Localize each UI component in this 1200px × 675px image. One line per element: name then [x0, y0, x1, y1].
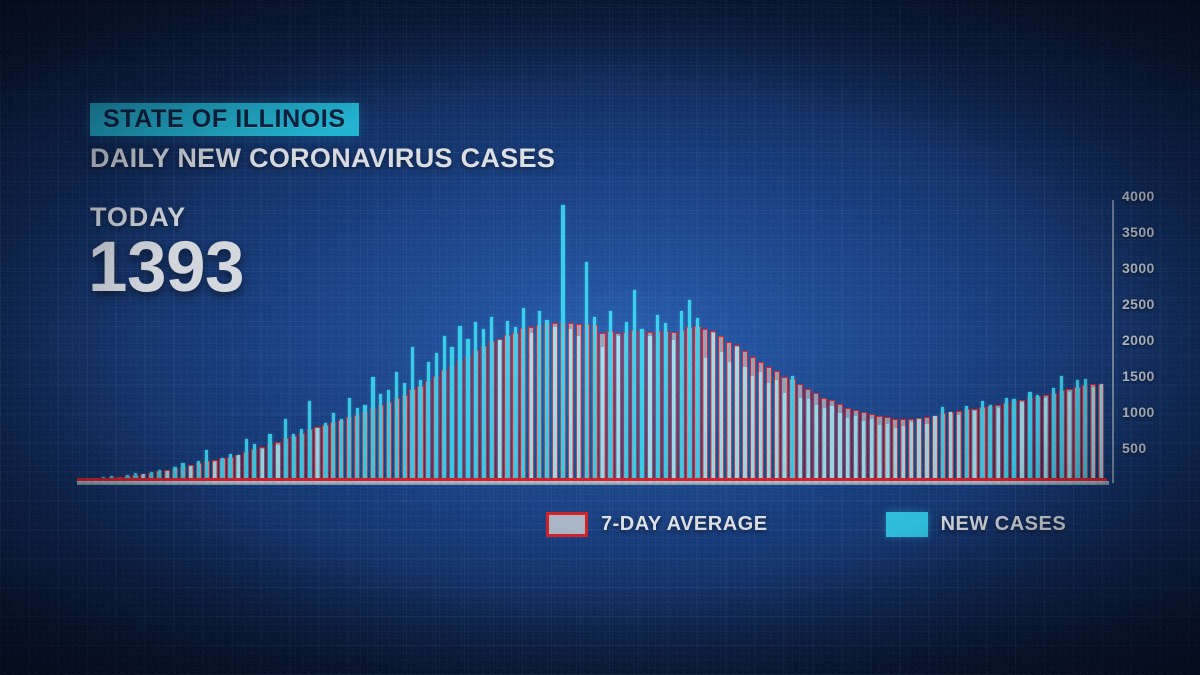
new-cases-bar [427, 362, 430, 484]
new-cases-bar [411, 347, 414, 484]
new-cases-bar [799, 398, 802, 484]
new-cases-bar [902, 426, 905, 484]
new-cases-bar [490, 317, 493, 484]
new-cases-bar [371, 377, 374, 484]
new-cases-bar [482, 329, 485, 484]
new-cases-bar [545, 320, 548, 484]
new-cases-bar [324, 423, 327, 484]
new-cases-bar [925, 424, 928, 484]
state-badge: STATE OF ILLINOIS [90, 103, 359, 136]
new-cases-bar [989, 405, 992, 484]
new-cases-bar [1044, 398, 1047, 484]
new-cases-bar [332, 413, 335, 484]
new-cases-bar [640, 329, 643, 484]
y-tick-label: 2000 [1122, 332, 1155, 348]
new-cases-bar [838, 413, 841, 484]
avg-swatch-icon [546, 512, 588, 537]
legend-item-new-cases: NEW CASES [886, 512, 1067, 537]
new-cases-bar [862, 421, 865, 484]
new-cases-bar [688, 300, 691, 484]
new-cases-bar [854, 416, 857, 484]
new-cases-bar [538, 311, 541, 484]
new-cases-bar [356, 408, 359, 484]
new-cases-swatch-icon [886, 512, 928, 537]
new-cases-bar [910, 422, 913, 484]
new-cases-bar [530, 333, 533, 484]
new-cases-bar [514, 327, 517, 484]
new-cases-bar [553, 327, 556, 484]
new-cases-bar [933, 416, 936, 484]
new-cases-bar [348, 398, 351, 484]
new-cases-bar [387, 390, 390, 484]
y-tick-label: 3000 [1122, 260, 1155, 276]
new-cases-bar [791, 376, 794, 484]
new-cases-bar [981, 401, 984, 484]
new-cases-bar [1052, 388, 1055, 484]
new-cases-bar [466, 339, 469, 484]
y-tick-label: 4000 [1122, 188, 1155, 204]
new-cases-bar [783, 393, 786, 484]
new-cases-bar [1100, 384, 1103, 484]
y-tick-label: 1000 [1122, 404, 1155, 420]
new-cases-bar [419, 380, 422, 484]
new-cases-bar [1012, 399, 1015, 484]
new-cases-bar [680, 311, 683, 484]
chart-plot-area [77, 196, 1106, 484]
new-cases-bar [712, 333, 715, 484]
new-cases-bar [830, 406, 833, 484]
new-cases-bar [340, 419, 343, 484]
chart-legend: 7-DAY AVERAGE NEW CASES [546, 512, 1066, 537]
new-cases-bar [704, 358, 707, 484]
new-cases-bar [435, 353, 438, 484]
new-cases-bar [1005, 398, 1008, 484]
new-cases-bar [450, 347, 453, 484]
new-cases-bar [973, 411, 976, 484]
y-tick-label: 3500 [1122, 224, 1155, 240]
new-cases-bar [625, 322, 628, 484]
y-tick-label: 1500 [1122, 368, 1155, 384]
new-cases-bar [672, 340, 675, 484]
new-cases-bar [949, 412, 952, 484]
new-cases-bar [561, 205, 564, 484]
new-cases-bar [728, 362, 731, 484]
new-cases-bar [403, 383, 406, 484]
new-cases-bar [395, 372, 398, 484]
new-cases-bar [870, 419, 873, 484]
new-cases-bar [577, 336, 580, 484]
new-cases-bar [664, 323, 667, 484]
new-cases-bar [379, 394, 382, 484]
legend-label-new-cases: NEW CASES [941, 513, 1067, 536]
new-cases-bar [601, 347, 604, 484]
new-cases-bar [735, 347, 738, 484]
new-cases-bar [316, 428, 319, 484]
new-cases-bar [894, 428, 897, 484]
new-cases-bar [498, 340, 501, 484]
new-cases-bar [1092, 387, 1095, 484]
new-cases-bar [593, 317, 596, 484]
new-cases-bar [767, 383, 770, 484]
new-cases-bar [1020, 402, 1023, 484]
bar-series-container [77, 196, 1106, 484]
y-axis-line [1112, 200, 1114, 483]
new-cases-bar [1076, 380, 1079, 484]
new-cases-bar [363, 405, 366, 484]
new-cases-bar [846, 418, 849, 484]
chart-baseline [77, 481, 1109, 485]
new-cases-bar [268, 434, 271, 484]
y-tick-label: 500 [1122, 440, 1147, 456]
new-cases-bar [807, 399, 810, 484]
new-cases-bar [292, 434, 295, 484]
new-cases-bar [585, 262, 588, 484]
new-cases-bar [656, 315, 659, 484]
chart-subtitle: DAILY NEW CORONAVIRUS CASES [90, 143, 555, 174]
broadcast-chart-graphic: STATE OF ILLINOIS DAILY NEW CORONAVIRUS … [0, 0, 1200, 675]
new-cases-bar [1060, 376, 1063, 484]
new-cases-bar [878, 425, 881, 484]
new-cases-bar [823, 408, 826, 484]
new-cases-bar [1084, 379, 1087, 484]
new-cases-bar [300, 429, 303, 484]
new-cases-bar [458, 326, 461, 484]
new-cases-bar [506, 321, 509, 484]
new-cases-bar [1068, 392, 1071, 484]
new-cases-bar [308, 401, 311, 484]
new-cases-bar [743, 367, 746, 484]
new-cases-bar [569, 329, 572, 484]
new-cases-bar [1036, 395, 1039, 484]
new-cases-bar [609, 311, 612, 484]
new-cases-bar [474, 322, 477, 484]
new-cases-bar [443, 336, 446, 484]
new-cases-bar [917, 419, 920, 484]
new-cases-bar [759, 372, 762, 484]
new-cases-bar [284, 419, 287, 484]
new-cases-bar [1028, 392, 1031, 484]
new-cases-bar [965, 406, 968, 484]
new-cases-bar [633, 290, 636, 484]
new-cases-bar [941, 407, 944, 484]
legend-item-average: 7-DAY AVERAGE [546, 512, 768, 537]
new-cases-bar [696, 318, 699, 484]
new-cases-bar [617, 336, 620, 484]
new-cases-bar [720, 352, 723, 484]
new-cases-bar [886, 424, 889, 484]
new-cases-bar [648, 336, 651, 484]
new-cases-bar [751, 376, 754, 484]
y-tick-label: 2500 [1122, 296, 1155, 312]
new-cases-bar [957, 415, 960, 484]
new-cases-bar [997, 408, 1000, 484]
new-cases-bar [815, 405, 818, 484]
new-cases-bar [522, 308, 525, 484]
legend-label-average: 7-DAY AVERAGE [601, 513, 768, 536]
new-cases-bar [775, 380, 778, 484]
